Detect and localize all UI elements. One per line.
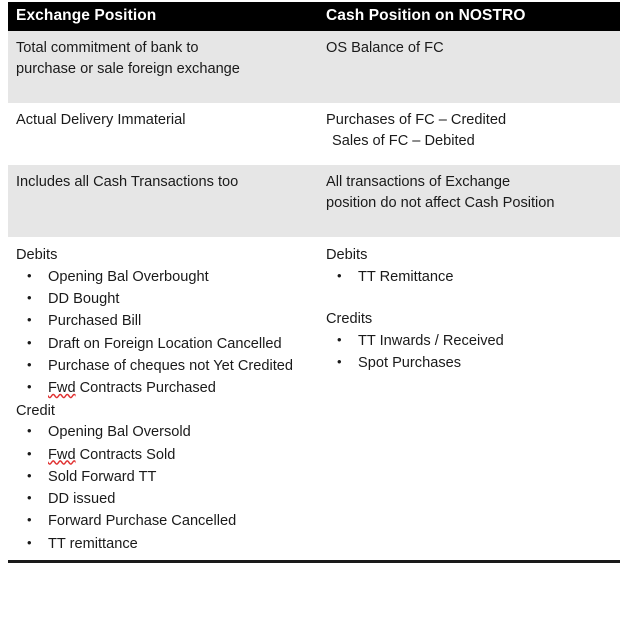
list-item-label: Opening Bal Overbought	[48, 269, 209, 285]
bullet-icon: •	[337, 352, 342, 373]
exchange-debits-list: • Opening Bal Overbought • DD Bought • P…	[16, 267, 308, 400]
list-item: • Fwd Contracts Purchased	[16, 378, 308, 399]
list-item-label: Opening Bal Oversold	[48, 424, 191, 440]
comparison-table: Exchange Position Cash Position on NOSTR…	[8, 2, 620, 563]
exchange-credit-list: • Opening Bal Oversold • Fwd Contracts S…	[16, 422, 308, 555]
list-item: • TT remittance	[16, 534, 308, 555]
table-row: Total commitment of bank to purchase or …	[8, 31, 620, 103]
cell-exchange-total-commitment: Total commitment of bank to purchase or …	[8, 31, 316, 103]
table-row: Actual Delivery Immaterial Purchases of …	[8, 103, 620, 165]
bullet-icon: •	[27, 310, 32, 331]
column-header-exchange-position: Exchange Position	[8, 2, 316, 31]
exchange-credit-label: Credit	[16, 401, 308, 422]
list-gap-spacer	[326, 289, 612, 309]
text-line: Sales of FC – Debited	[326, 131, 612, 152]
list-item-label: Spot Purchases	[358, 355, 461, 371]
spellcheck-underline: Fwd	[48, 380, 76, 396]
cash-debits-label: Debits	[326, 245, 612, 266]
table-header-row: Exchange Position Cash Position on NOSTR…	[8, 2, 620, 31]
bullet-icon: •	[27, 444, 32, 465]
list-item-label: TT Remittance	[358, 269, 453, 285]
text-line: purchase or sale foreign exchange	[16, 59, 308, 80]
text-line: Actual Delivery Immaterial	[16, 110, 308, 131]
bullet-icon: •	[27, 266, 32, 287]
bullet-icon: •	[27, 355, 32, 376]
list-item: • DD Bought	[16, 289, 308, 310]
bullet-icon: •	[27, 466, 32, 487]
cash-credits-label: Credits	[326, 309, 612, 330]
cash-debits-list: • TT Remittance	[326, 267, 612, 288]
list-item-label: Fwd Contracts Purchased	[48, 380, 216, 396]
list-item: • Sold Forward TT	[16, 467, 308, 488]
list-item: • Opening Bal Overbought	[16, 267, 308, 288]
text-line: All transactions of Exchange	[326, 172, 612, 193]
cell-exchange-includes-cash: Includes all Cash Transactions too	[8, 165, 316, 237]
bullet-icon: •	[27, 488, 32, 509]
list-item-label: Purchase of cheques not Yet Credited	[48, 358, 293, 374]
list-item-label: Forward Purchase Cancelled	[48, 513, 236, 529]
spellcheck-underline: Fwd	[48, 447, 76, 463]
text-line: OS Balance of FC	[326, 38, 612, 59]
list-item: • Forward Purchase Cancelled	[16, 511, 308, 532]
table-row: Includes all Cash Transactions too All t…	[8, 165, 620, 237]
cell-cash-purchases-sales: Purchases of FC – Credited Sales of FC –…	[316, 103, 620, 165]
cell-cash-detail-lists: Debits • TT Remittance Credits • TT Inwa…	[316, 237, 620, 562]
cell-cash-no-effect: All transactions of Exchange position do…	[316, 165, 620, 237]
list-item-label: Purchased Bill	[48, 313, 141, 329]
list-item-label: Draft on Foreign Location Cancelled	[48, 336, 282, 352]
list-item-label: DD issued	[48, 491, 115, 507]
list-item: • Spot Purchases	[326, 353, 612, 374]
text-line: Includes all Cash Transactions too	[16, 172, 308, 193]
bullet-icon: •	[27, 533, 32, 554]
text-line: Total commitment of bank to	[16, 38, 308, 59]
bullet-icon: •	[337, 266, 342, 287]
list-item: • Opening Bal Oversold	[16, 422, 308, 443]
list-item-label: Fwd Contracts Sold	[48, 447, 175, 463]
list-item: • Draft on Foreign Location Cancelled	[16, 334, 308, 355]
list-item-label: TT Inwards / Received	[358, 333, 504, 349]
exchange-debits-label: Debits	[16, 245, 308, 266]
list-item: • TT Inwards / Received	[326, 331, 612, 352]
bullet-icon: •	[337, 330, 342, 351]
list-item: • Purchase of cheques not Yet Credited	[16, 356, 308, 377]
cell-exchange-actual-delivery: Actual Delivery Immaterial	[8, 103, 316, 165]
column-header-cash-position: Cash Position on NOSTRO	[316, 2, 620, 31]
list-item: • Fwd Contracts Sold	[16, 445, 308, 466]
list-item-label: TT remittance	[48, 536, 138, 552]
list-item: • DD issued	[16, 489, 308, 510]
table-row: Debits • Opening Bal Overbought • DD Bou…	[8, 237, 620, 562]
cell-cash-os-balance: OS Balance of FC	[316, 31, 620, 103]
bullet-icon: •	[27, 288, 32, 309]
bullet-icon: •	[27, 377, 32, 398]
cash-credits-list: • TT Inwards / Received • Spot Purchases	[326, 331, 612, 375]
list-item: • TT Remittance	[326, 267, 612, 288]
slide-canvas: Exchange Position Cash Position on NOSTR…	[0, 0, 629, 618]
list-item-label: Sold Forward TT	[48, 469, 156, 485]
text-line: position do not affect Cash Position	[326, 193, 612, 214]
bullet-icon: •	[27, 510, 32, 531]
bullet-icon: •	[27, 421, 32, 442]
list-item: • Purchased Bill	[16, 311, 308, 332]
cell-exchange-detail-lists: Debits • Opening Bal Overbought • DD Bou…	[8, 237, 316, 562]
list-item-label: DD Bought	[48, 291, 119, 307]
bullet-icon: •	[27, 333, 32, 354]
text-line: Purchases of FC – Credited	[326, 110, 612, 131]
